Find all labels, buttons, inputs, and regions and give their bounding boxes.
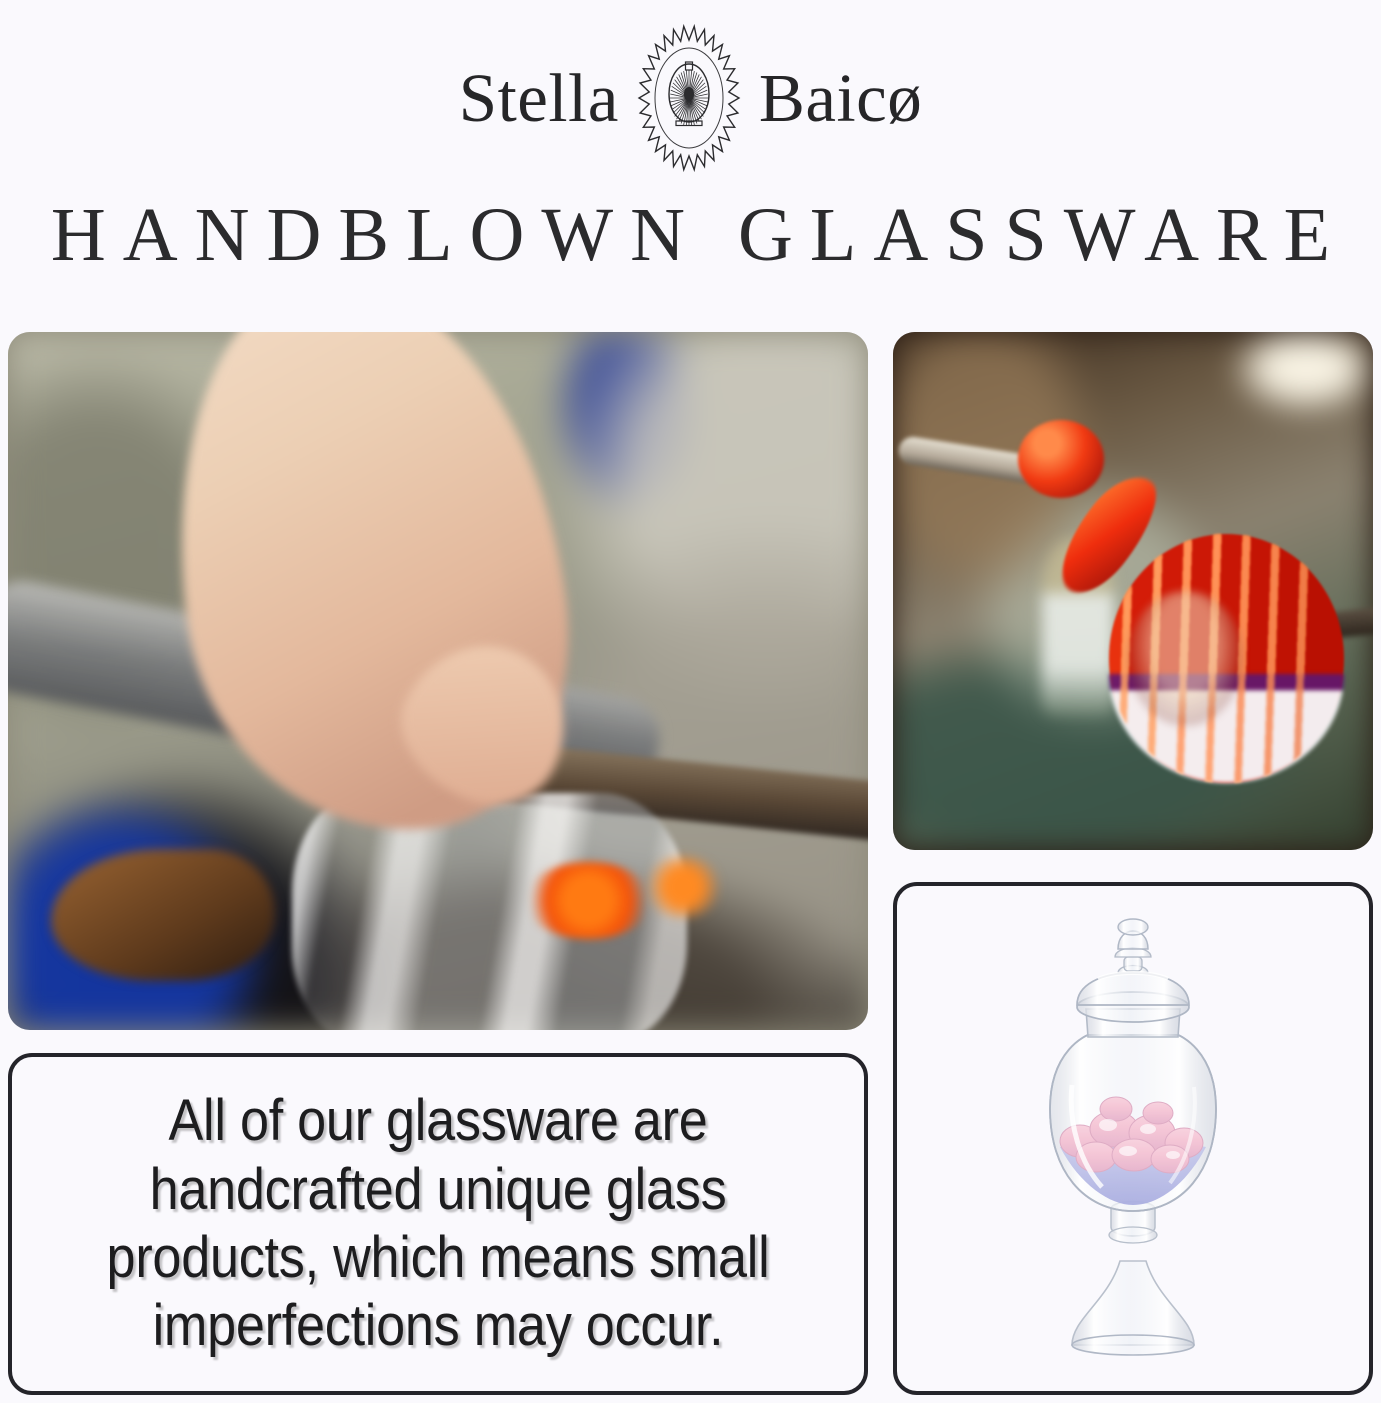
brand-logo: Stella Baicø	[0, 28, 1381, 168]
apothecary-jar-box	[893, 882, 1373, 1395]
rod-knob	[51, 849, 275, 982]
disclaimer-text: All of our glassware are handcrafted uni…	[78, 1087, 798, 1361]
oval-sunburst-emblem-icon	[633, 22, 745, 174]
apothecary-jar-photo	[968, 909, 1298, 1369]
molten-glow-second	[644, 856, 721, 919]
product-infographic-page: Stella Baicø HANDBLOWN GLASSWARE	[0, 0, 1381, 1403]
brand-name-left: Stella	[459, 64, 619, 133]
molten-glow	[524, 862, 653, 939]
page-title: HANDBLOWN GLASSWARE	[0, 196, 1381, 276]
bulb-reflection	[1128, 591, 1243, 726]
disclaimer-box: All of our glassware are handcrafted uni…	[8, 1053, 868, 1395]
molten-gather	[1018, 420, 1104, 498]
brand-name-right: Baicø	[759, 64, 922, 133]
molten-red-glass-photo	[893, 332, 1373, 850]
glassblowing-photo	[8, 332, 868, 1030]
